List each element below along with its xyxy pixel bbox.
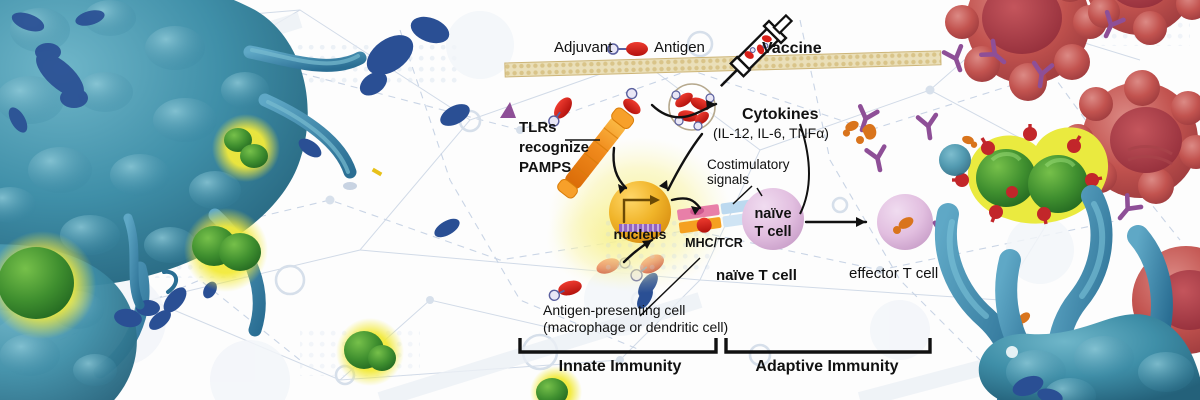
bacteria-green-bottom xyxy=(336,318,404,386)
effector-t-cell-caption: effector T cell xyxy=(849,266,938,283)
cytokines-list: (IL-12, IL-6, TNFα) xyxy=(713,126,829,142)
diagram-artwork xyxy=(0,0,1200,400)
legend-adjuvant-label: Adjuvant xyxy=(554,40,612,57)
costimulatory-label-line1: Costimulatory xyxy=(707,157,790,172)
tlr-label-line1: TLRs xyxy=(519,120,557,137)
apc-caption-line2: (macrophage or dendritic cell) xyxy=(543,320,728,336)
adaptive-immunity-label: Adaptive Immunity xyxy=(755,358,898,376)
legend-antigen-label: Antigen xyxy=(654,40,705,57)
vaccine-label: Vaccine xyxy=(762,40,822,58)
mhc-tcr-label: MHC/TCR xyxy=(685,236,743,250)
naive-t-cell-caption: naïve T cell xyxy=(716,268,797,285)
nucleus-label: nucleus xyxy=(614,227,667,243)
costimulatory-label-line2: signals xyxy=(707,172,749,187)
apc-caption-line1: Antigen-presenting cell xyxy=(543,303,685,319)
immunology-diagram: Adjuvant Antigen Vaccine TLRs recognize … xyxy=(0,0,1200,400)
naive-t-cell-inside-line2: T cell xyxy=(754,224,791,240)
bacteria-green-left xyxy=(212,114,280,182)
innate-immunity-label: Innate Immunity xyxy=(559,358,682,376)
teal-cell-small xyxy=(939,144,971,176)
naive-t-cell-inside-line1: naïve xyxy=(754,206,791,222)
cytokines-title: Cytokines xyxy=(742,106,818,124)
tlr-label-line3: PAMPS xyxy=(519,160,571,177)
tlr-label-line2: recognize xyxy=(519,140,589,157)
effector-t-cell xyxy=(877,194,933,250)
bacteria-green-lower-mid xyxy=(184,208,268,292)
